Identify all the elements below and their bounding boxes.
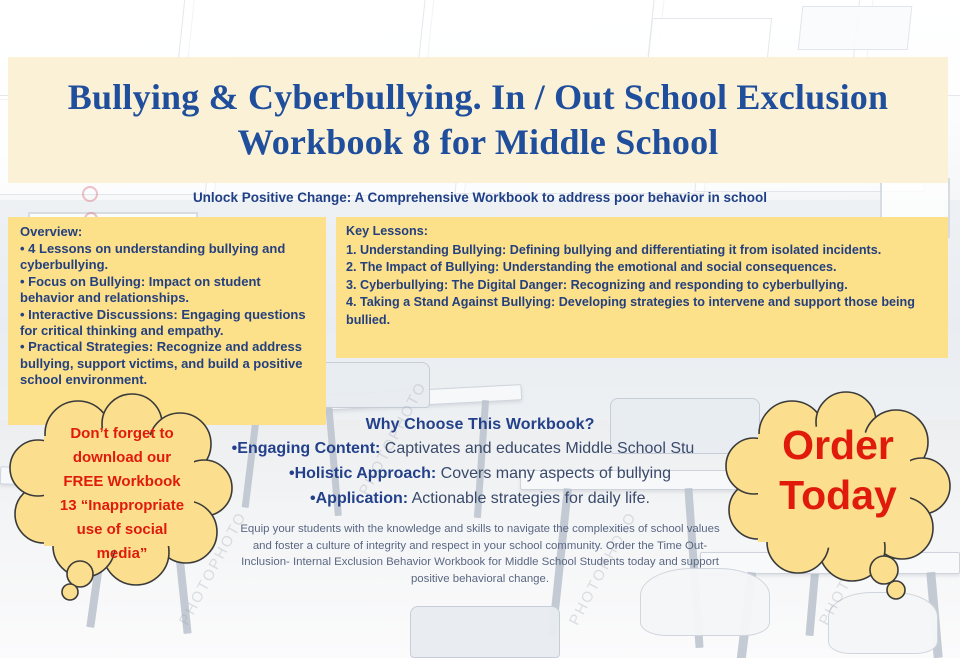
- closing-paragraph: Equip your students with the knowledge a…: [230, 521, 730, 587]
- title-banner: Bullying & Cyberbullying. In / Out Schoo…: [8, 57, 948, 183]
- page-title: Bullying & Cyberbullying. In / Out Schoo…: [8, 75, 948, 165]
- why-choose-bullet-label: Engaging Content:: [237, 440, 380, 457]
- why-choose-bullet-text: Captivates and educates Middle School St…: [380, 440, 694, 457]
- order-today-thought-bubble[interactable]: Order Today: [726, 398, 952, 598]
- key-lessons-heading: Key Lessons:: [346, 223, 936, 241]
- key-lessons-box: Key Lessons: 1. Understanding Bullying: …: [336, 217, 948, 358]
- overview-item: • Focus on Bullying: Impact on student b…: [20, 274, 316, 307]
- why-choose-bullet-text: Actionable strategies for daily life.: [408, 490, 650, 507]
- why-choose-bullet-text: Covers many aspects of bullying: [436, 465, 671, 482]
- overview-heading: Overview:: [20, 223, 316, 240]
- why-choose-bullet: •Engaging Content: Captivates and educat…: [146, 436, 780, 461]
- order-today-text: Order Today: [744, 420, 932, 520]
- key-lessons-item: 4. Taking a Stand Against Bullying: Deve…: [346, 294, 936, 329]
- light-panel: [798, 6, 913, 50]
- key-lessons-item: 1. Understanding Bullying: Defining bull…: [346, 242, 936, 260]
- light-panel: [648, 18, 772, 58]
- why-choose-bullet-label: Application:: [316, 490, 408, 507]
- why-choose-bullet-label: Holistic Approach:: [295, 465, 437, 482]
- why-choose-bullet: •Application: Actionable strategies for …: [180, 486, 780, 511]
- overview-item: • Interactive Discussions: Engaging ques…: [20, 307, 316, 340]
- overview-item: • 4 Lessons on understanding bullying an…: [20, 241, 316, 274]
- chair: [410, 606, 560, 658]
- key-lessons-item: 2. The Impact of Bullying: Understanding…: [346, 259, 936, 277]
- free-workbook-thought-bubble[interactable]: Don’t forget to download our FREE Workbo…: [8, 396, 236, 606]
- overview-item: • Practical Strategies: Recognize and ad…: [20, 339, 316, 388]
- free-workbook-text: Don’t forget to download our FREE Workbo…: [30, 422, 214, 566]
- overview-box: Overview: • 4 Lessons on understanding b…: [8, 217, 326, 425]
- why-choose-section: Why Choose This Workbook? •Engaging Cont…: [180, 414, 780, 511]
- page-subtitle: Unlock Positive Change: A Comprehensive …: [0, 190, 960, 205]
- why-choose-bullet: •Holistic Approach: Covers many aspects …: [180, 461, 780, 486]
- key-lessons-item: 3. Cyberbullying: The Digital Danger: Re…: [346, 277, 936, 295]
- poster-canvas: PHOTOPHOTO PHOTOPHOTO PHOTOPHOTO PHOTOPH…: [0, 0, 960, 658]
